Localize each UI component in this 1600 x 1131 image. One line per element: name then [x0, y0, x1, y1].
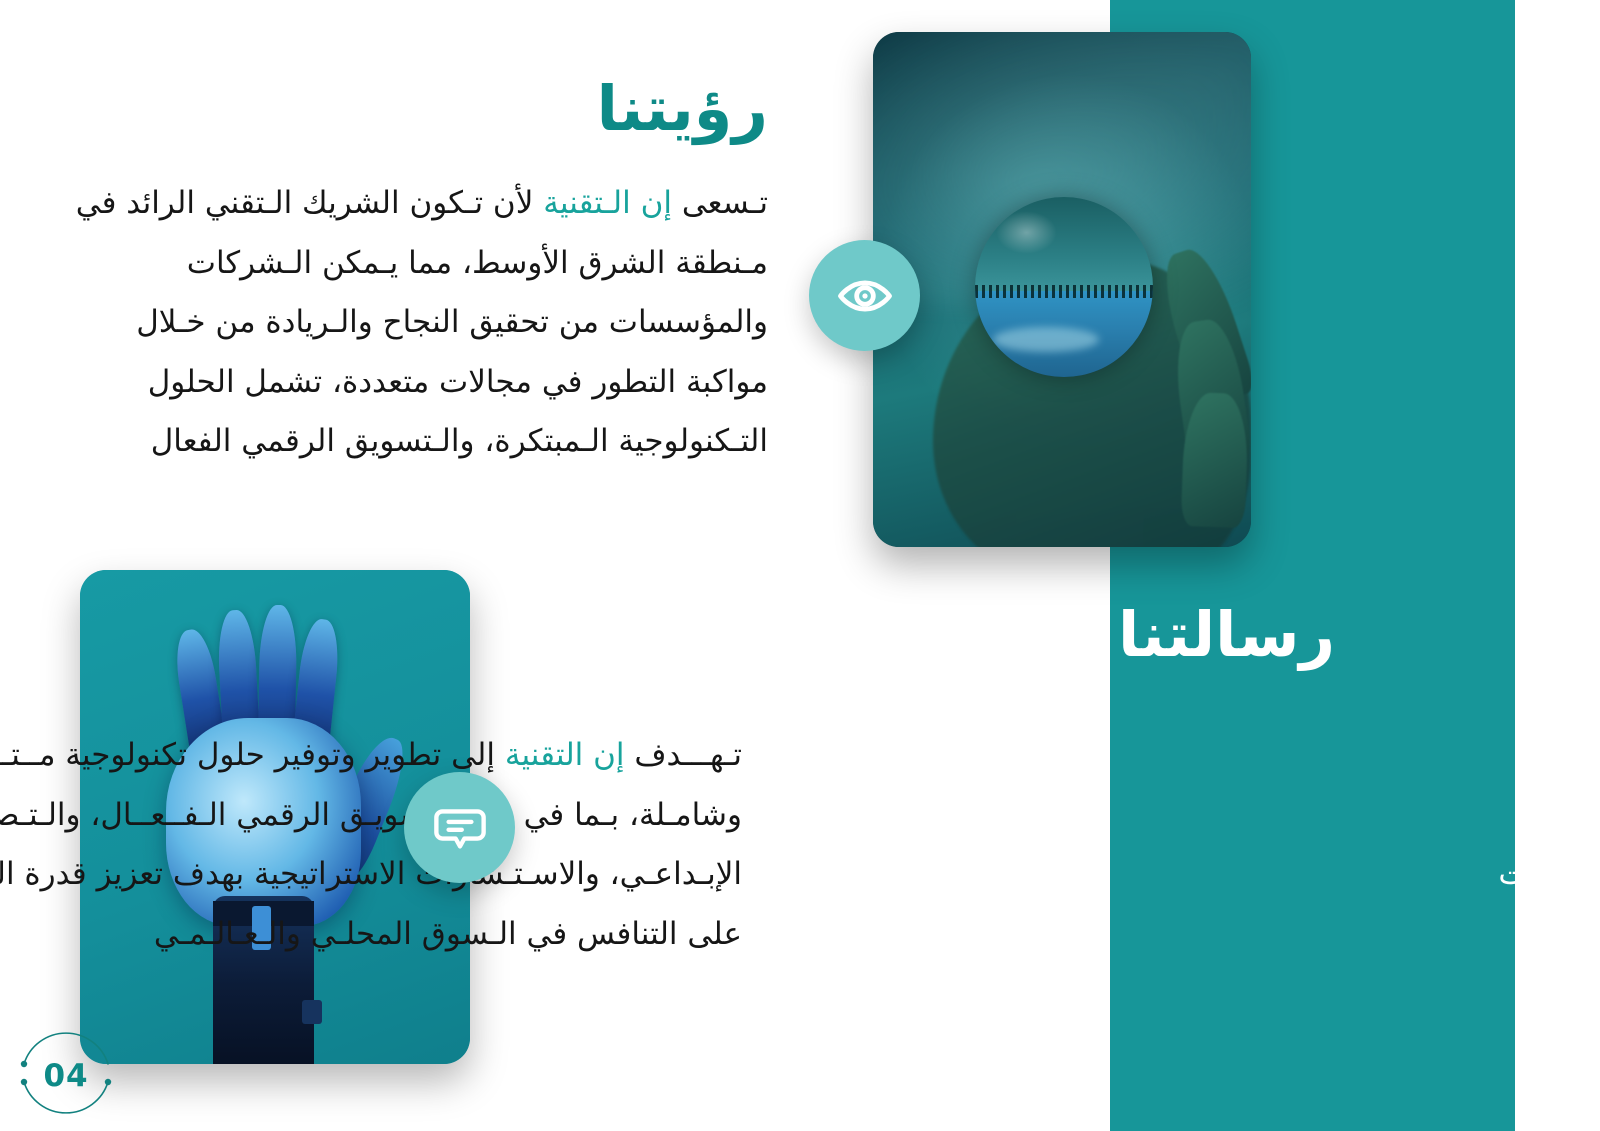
mission-body-clip-right: تـهـــدف إن التقنية إلى تطوير وتوفير حلو…	[1110, 726, 1600, 1056]
vision-title: رؤيتنا	[68, 78, 768, 140]
mission-body-highlight: إن التقنية	[505, 737, 625, 773]
mission-body: تـهـــدف إن التقنية إلى تطوير وتوفير حلو…	[0, 726, 742, 964]
mission-body-rest-overlay: إلى تطوير وتوفير حلول تكنولوجية مــتـقـد…	[1498, 737, 1600, 952]
mission-body-overlay: تـهـــدف إن التقنية إلى تطوير وتوفير حلو…	[1442, 726, 1600, 964]
vision-body: تـسعى إن الـتقنية لأن تـكون الشريك الـتق…	[68, 174, 768, 472]
ball-highlight	[996, 211, 1056, 254]
vision-glass-ball	[975, 197, 1153, 377]
page-number-value: 04	[14, 1024, 118, 1128]
chat-bubble-icon	[432, 800, 488, 856]
vision-icon-badge	[809, 240, 920, 351]
vision-text-block: رؤيتنا تـسعى إن الـتقنية لأن تـكون الشري…	[68, 78, 768, 472]
ball-cloud	[993, 327, 1100, 352]
mission-body-clip-left: تـهـــدف إن التقنية إلى تطوير وتوفير حلو…	[0, 726, 1110, 1056]
mission-body-lead: تـهـــدف	[624, 737, 742, 773]
mission-body-layer-dark: تـهـــدف إن التقنية إلى تطوير وتوفير حلو…	[0, 726, 742, 964]
mission-body-layer-white: تـهـــدف إن التقنية إلى تطوير وتوفير حلو…	[1442, 726, 1600, 964]
vision-image-card	[873, 32, 1251, 547]
vision-body-rest: لأن تـكون الشريك الـتقني الرائد في مـنطق…	[76, 185, 768, 459]
vision-body-highlight: إن الـتقنية	[543, 185, 672, 221]
ball-treeline	[975, 285, 1153, 298]
slide-root: رؤيتنا تـسعى إن الـتقنية لأن تـكون الشري…	[0, 0, 1600, 1131]
vision-body-lead: تـسعى	[672, 185, 768, 221]
mission-icon-badge	[404, 772, 515, 883]
page-number-badge: 04	[14, 1024, 118, 1128]
vision-photo	[873, 32, 1251, 547]
eye-icon	[837, 268, 893, 324]
mission-body-group: تـهـــدف إن التقنية إلى تطوير وتوفير حلو…	[0, 726, 1600, 1056]
